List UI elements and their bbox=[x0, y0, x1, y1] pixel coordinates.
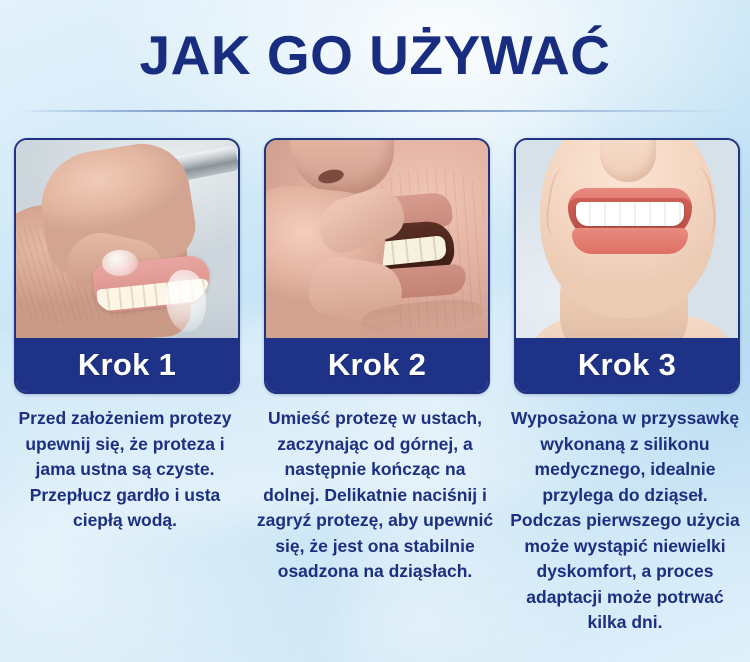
step-3-label: Krok 3 bbox=[578, 348, 676, 382]
step-descriptions: Przed założeniem protezy upewnij się, że… bbox=[0, 406, 750, 656]
step-3-photo bbox=[516, 140, 738, 338]
step-1-description: Przed założeniem protezy upewnij się, że… bbox=[6, 406, 244, 534]
step-3-band: Krok 3 bbox=[516, 338, 738, 392]
lower-lip bbox=[572, 228, 688, 254]
step-card-2: Krok 2 bbox=[264, 138, 490, 394]
step-2-band: Krok 2 bbox=[266, 338, 488, 392]
nose bbox=[290, 140, 394, 194]
steps-card-row: Krok 1 Krok 2 bbox=[0, 138, 750, 390]
step-2-label: Krok 2 bbox=[328, 348, 426, 382]
water-foam-a bbox=[102, 250, 138, 276]
header: JAK GO UŻYWAĆ bbox=[0, 0, 750, 112]
header-divider bbox=[18, 110, 732, 112]
step-1-label: Krok 1 bbox=[78, 348, 176, 382]
water-foam-b bbox=[166, 270, 206, 332]
step-1-band: Krok 1 bbox=[16, 338, 238, 392]
step-1-photo bbox=[16, 140, 238, 338]
infographic-page: JAK GO UŻYWAĆ bbox=[0, 0, 750, 662]
step-card-1: Krok 1 bbox=[14, 138, 240, 394]
white-teeth bbox=[576, 202, 684, 226]
step-3-description: Wyposażona w przyssawkę wykonaną z silik… bbox=[506, 406, 744, 636]
step-2-description: Umieść protezę w ustach, zaczynając od g… bbox=[256, 406, 494, 585]
step-card-3: Krok 3 bbox=[514, 138, 740, 394]
step-2-photo bbox=[266, 140, 488, 338]
page-title: JAK GO UŻYWAĆ bbox=[0, 22, 750, 88]
